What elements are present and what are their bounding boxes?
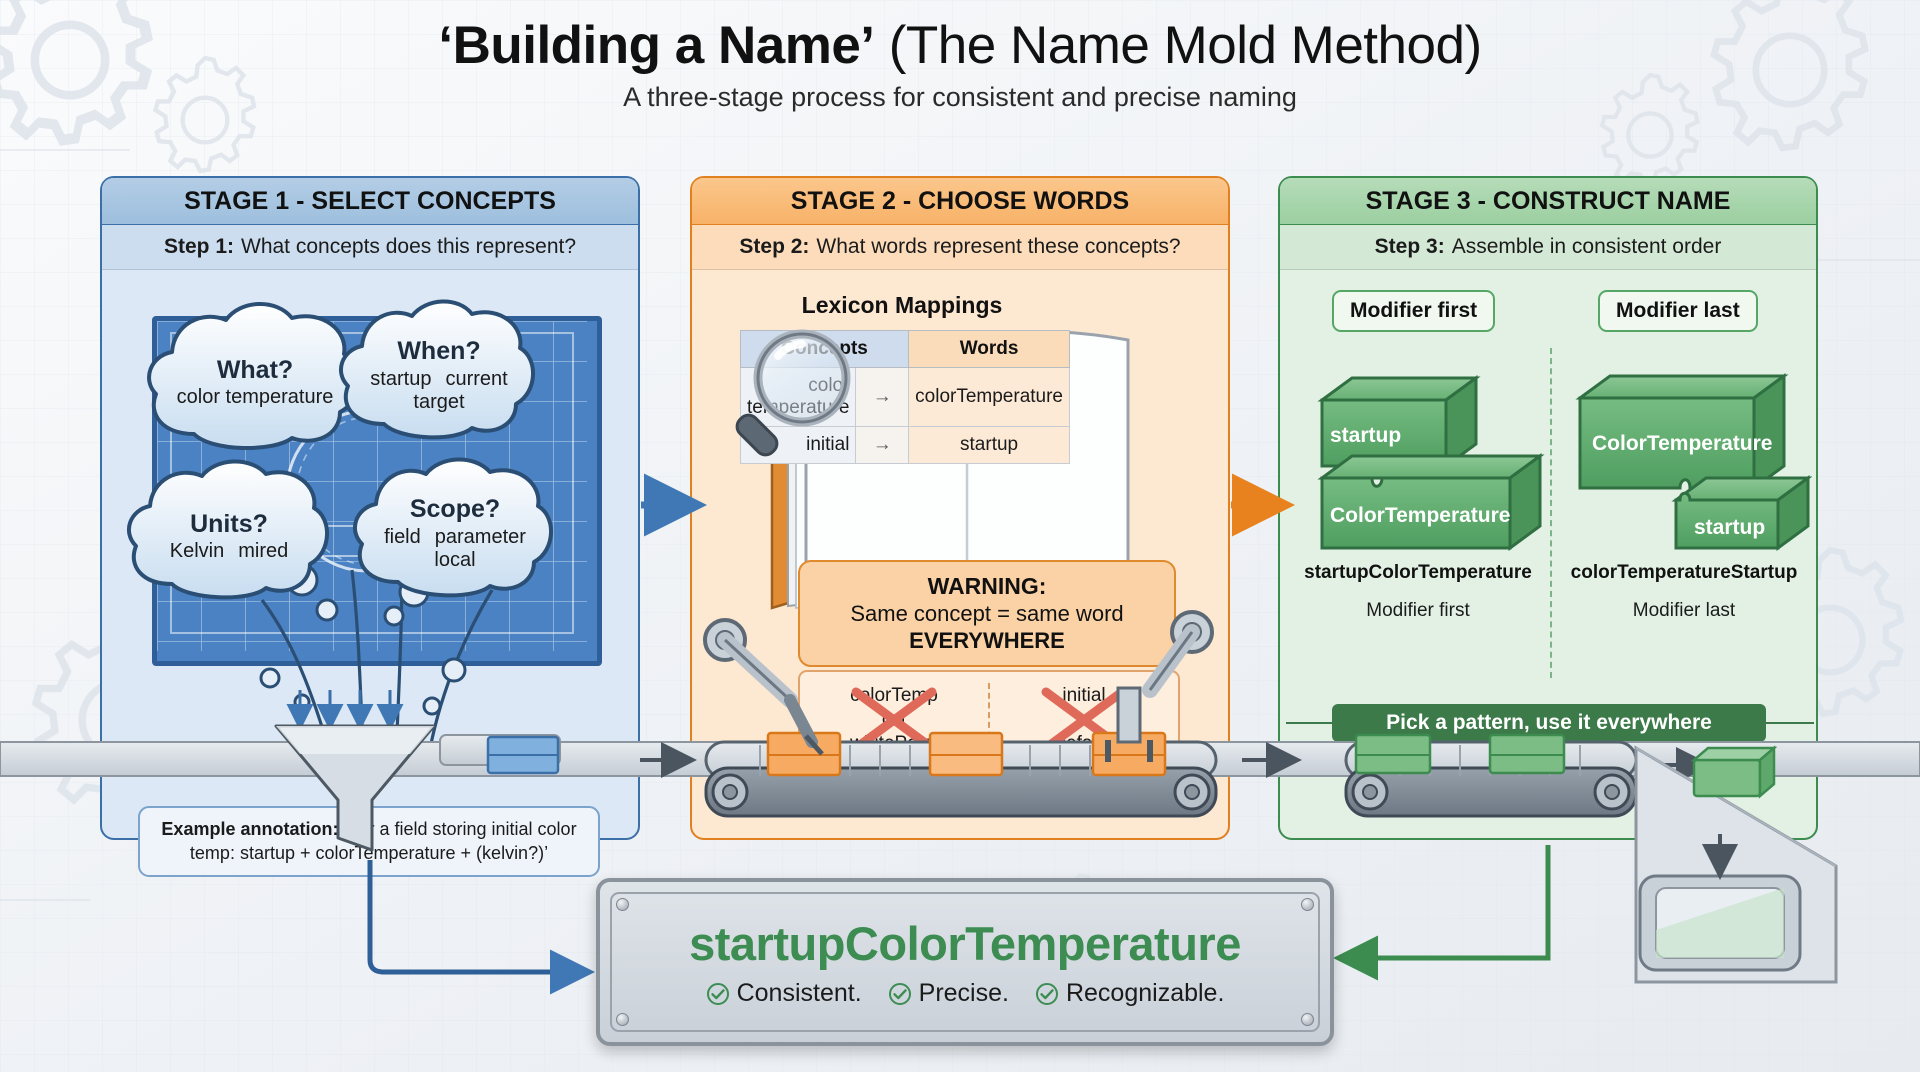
check-circle-icon — [888, 982, 912, 1006]
result-tags: Consistent. Precise. Recognizable. — [706, 979, 1225, 1008]
result-plate: startupColorTemperature Consistent. Prec… — [596, 878, 1334, 1046]
result-tag-label: Consistent. — [737, 979, 862, 1008]
result-tag: Precise. — [888, 979, 1009, 1008]
belt-box-green-output — [1694, 748, 1774, 796]
result-plate-inner: startupColorTemperature Consistent. Prec… — [610, 892, 1320, 1032]
connector-stage3-to-result — [1348, 845, 1548, 958]
belt-box-green-2 — [1490, 735, 1564, 773]
result-tag-label: Recognizable. — [1066, 979, 1224, 1008]
result-tag-label: Precise. — [919, 979, 1009, 1008]
result-tag: Recognizable. — [1035, 979, 1224, 1008]
check-circle-icon — [706, 982, 730, 1006]
belt-box-orange-2 — [930, 733, 1002, 775]
connector-stage1-to-result — [370, 860, 580, 972]
robot-arm-left — [705, 620, 822, 754]
result-tag: Consistent. — [706, 979, 862, 1008]
check-circle-icon — [1035, 982, 1059, 1006]
belt-box-blue — [488, 737, 558, 773]
final-name: startupColorTemperature — [689, 916, 1241, 971]
belt-box-green-1 — [1356, 735, 1430, 773]
